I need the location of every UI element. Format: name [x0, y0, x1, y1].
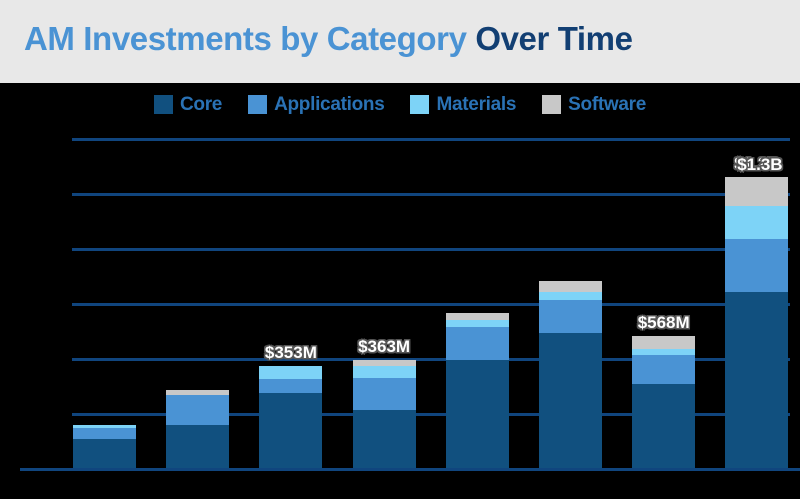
bar-value-label: $1.3B	[708, 156, 800, 173]
bar-segment[interactable]	[446, 320, 509, 328]
bar-segment[interactable]	[73, 439, 136, 468]
bar-stack[interactable]	[259, 366, 322, 468]
bar-segment[interactable]	[259, 379, 322, 393]
plot-area: $353M$363M$568M$1.2B$1.3B	[0, 0, 800, 499]
bar-segment[interactable]	[446, 360, 509, 468]
bar-segment[interactable]	[259, 393, 322, 468]
bar-segment[interactable]	[166, 425, 229, 468]
bar-segment[interactable]	[539, 281, 602, 292]
bar-stack[interactable]	[166, 390, 229, 468]
bar-segment[interactable]	[725, 292, 788, 468]
bar-segment[interactable]	[353, 366, 416, 378]
bar-segment[interactable]	[259, 366, 322, 379]
bar-segment[interactable]	[539, 333, 602, 468]
bar-segment[interactable]	[353, 378, 416, 410]
bar-stack[interactable]	[446, 313, 509, 468]
bar-stack[interactable]	[539, 281, 602, 468]
bar-value-label: $363M	[333, 338, 436, 355]
bar-stack[interactable]	[73, 425, 136, 468]
bar-value-label: $353M	[239, 344, 342, 361]
axis-baseline	[20, 468, 800, 471]
gridline	[72, 138, 790, 141]
bar-segment[interactable]	[632, 384, 695, 468]
gridline	[72, 248, 790, 251]
bar-segment[interactable]	[632, 336, 695, 349]
bar-stack[interactable]	[353, 360, 416, 468]
bar-segment[interactable]	[725, 239, 788, 292]
bar-stack[interactable]	[632, 336, 695, 468]
bar-segment[interactable]	[539, 292, 602, 300]
gridline	[72, 193, 790, 196]
bar-segment[interactable]	[166, 395, 229, 425]
bar-segment[interactable]	[725, 206, 788, 240]
gridline	[72, 303, 790, 306]
bar-value-label: $568M	[612, 314, 715, 331]
chart-screenshot: AM Investments by Category Over Time Cor…	[0, 0, 800, 499]
bar-segment[interactable]	[353, 410, 416, 468]
bar-stack[interactable]	[725, 177, 788, 468]
bar-segment[interactable]	[446, 327, 509, 360]
bar-segment[interactable]	[73, 428, 136, 440]
bar-segment[interactable]	[632, 355, 695, 384]
bar-segment[interactable]	[725, 177, 788, 206]
bar-segment[interactable]	[539, 300, 602, 333]
